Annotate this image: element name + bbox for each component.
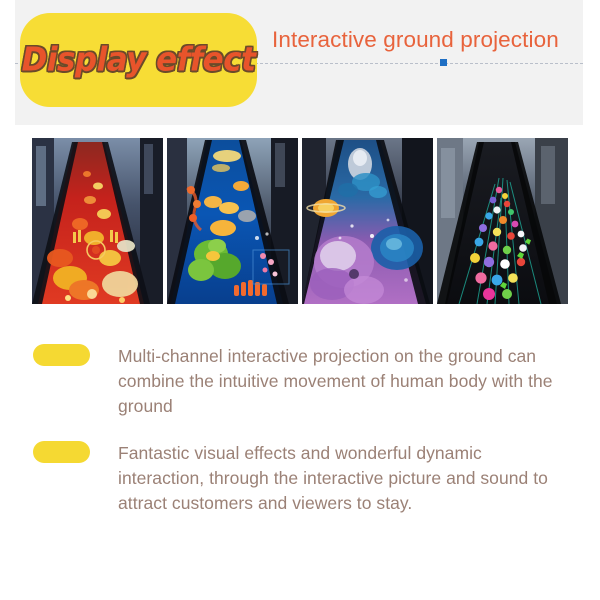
features-list: Multi-channel interactive projection on … <box>0 344 600 538</box>
feature-text: Fantastic visual effects and wonderful d… <box>118 441 600 516</box>
feature-bullet-wrap <box>0 441 118 463</box>
gallery-image-red-festive-corridor[interactable] <box>32 138 163 304</box>
feature-bullet-pill-icon <box>33 344 90 366</box>
display-effect-badge: Display effect <box>20 13 257 107</box>
dark-flower-grass-corridor-illustration <box>437 138 568 304</box>
feature-bullet-wrap <box>0 344 118 366</box>
header-subtitle: Interactive ground projection <box>272 27 559 53</box>
gallery <box>32 138 568 304</box>
purple-galaxy-corridor-illustration <box>302 138 433 304</box>
blue-koi-pond-corridor-illustration <box>167 138 298 304</box>
feature-item: Fantastic visual effects and wonderful d… <box>0 441 600 516</box>
feature-text-paragraph: Fantastic visual effects and wonderful d… <box>118 441 560 516</box>
page-title: Display effect <box>22 41 256 79</box>
feature-bullet-pill-icon <box>33 441 90 463</box>
gallery-image-blue-koi-pond-corridor[interactable] <box>167 138 298 304</box>
gallery-image-purple-galaxy-corridor[interactable] <box>302 138 433 304</box>
gallery-image-dark-flower-grass-corridor[interactable] <box>437 138 568 304</box>
header-blue-square-marker <box>440 59 447 66</box>
feature-item: Multi-channel interactive projection on … <box>0 344 600 419</box>
feature-text-paragraph: Multi-channel interactive projection on … <box>118 344 560 419</box>
red-festive-corridor-illustration <box>32 138 163 304</box>
feature-text: Multi-channel interactive projection on … <box>118 344 600 419</box>
